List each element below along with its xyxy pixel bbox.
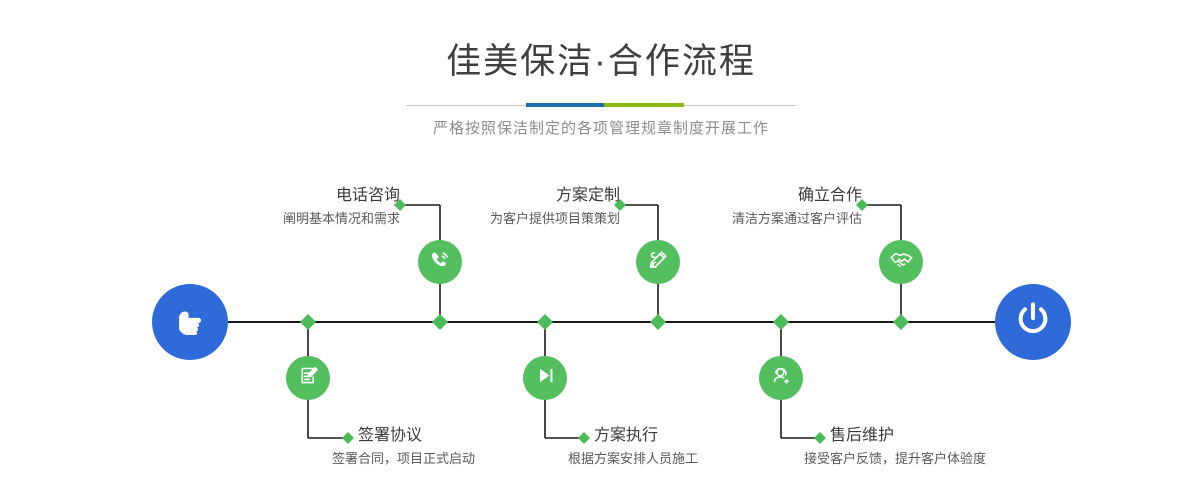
label-step-6-title: 售后维护 (830, 426, 1202, 446)
node-circle-step-3[interactable] (636, 240, 680, 284)
label-step-5: 确立合作 清洁方案通过客户评估 (522, 186, 862, 228)
power-icon (1011, 298, 1055, 347)
label-step-5-desc: 清洁方案通过客户评估 (522, 209, 862, 228)
spine-diamond-step-3 (650, 314, 666, 330)
phone-call-icon (427, 247, 453, 278)
node-circle-step-2[interactable] (286, 356, 330, 400)
node-circle-step-4[interactable] (523, 356, 567, 400)
node-circle-step-1[interactable] (418, 240, 462, 284)
label-step-5-title: 确立合作 (522, 186, 862, 206)
end-node[interactable] (995, 284, 1071, 360)
label-diamond-step-2 (342, 432, 354, 444)
node-circle-step-6[interactable] (759, 356, 803, 400)
spine-diamond-step-4 (537, 314, 553, 330)
label-step-6-desc: 接受客户反馈，提升客户体验度 (804, 449, 1202, 468)
spine-diamond-step-6 (773, 314, 789, 330)
spine-diamond-step-2 (300, 314, 316, 330)
process-flow-diagram: 电话咨询 阐明基本情况和需求 方案定制 为客户提供项目策策划 (0, 0, 1202, 502)
play-next-icon (533, 363, 558, 393)
spine-diamond-step-1 (432, 314, 448, 330)
customer-support-icon (769, 363, 794, 393)
pencil-edit-icon (645, 247, 671, 278)
handshake-icon (888, 246, 915, 278)
flow-diagram-page: 佳美保洁·合作流程 严格按照保洁制定的各项管理规章制度开展工作 (0, 0, 1202, 502)
node-circle-step-5[interactable] (879, 240, 923, 284)
sign-document-icon (296, 363, 321, 393)
spine-diamond-step-5 (893, 314, 909, 330)
pointing-hand-icon (169, 299, 211, 346)
label-step-6: 售后维护 接受客户反馈，提升客户体验度 (830, 426, 1202, 468)
start-node[interactable] (152, 284, 228, 360)
